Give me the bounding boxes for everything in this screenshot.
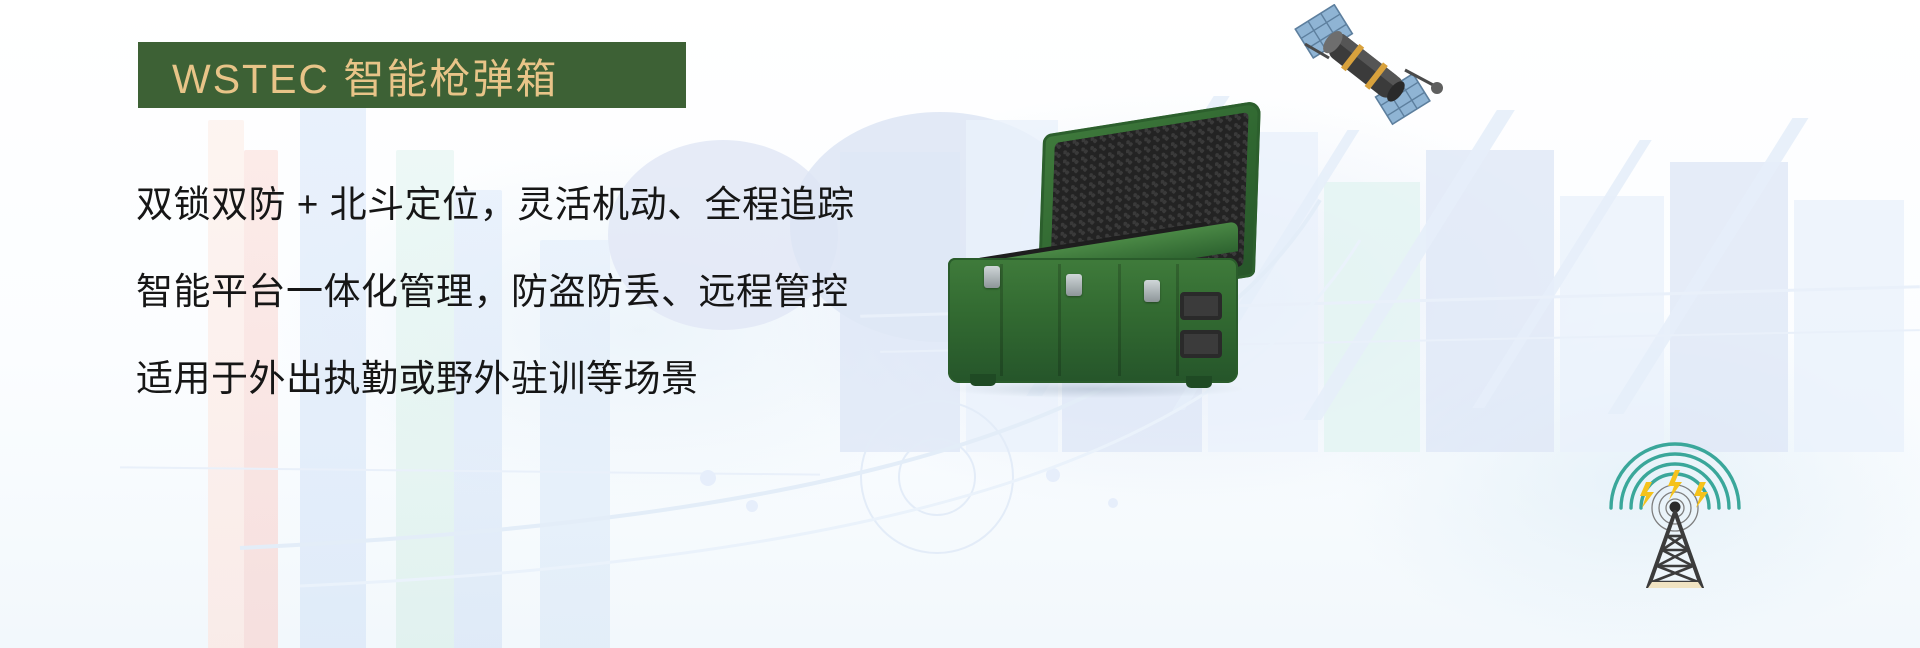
radio-tower-icon	[1600, 438, 1750, 588]
case-rib	[1058, 264, 1061, 376]
bg-diagonal-streak	[1608, 118, 1809, 414]
case-latch	[1066, 274, 1082, 296]
case-latch	[984, 266, 1000, 288]
promo-banner: WSTEC 智能枪弹箱 双锁双防 + 北斗定位，灵活机动、全程追踪 智能平台一体…	[0, 0, 1920, 648]
bg-diagonal-streak	[1472, 140, 1651, 408]
case-foot	[970, 374, 996, 386]
bg-hairline	[120, 466, 820, 475]
bg-dot	[746, 500, 758, 512]
feature-list: 双锁双防 + 北斗定位，灵活机动、全程追踪 智能平台一体化管理，防盗防丢、远程管…	[136, 186, 956, 397]
feature-line-3: 适用于外出执勤或野外驻训等场景	[136, 360, 956, 397]
bg-building	[1794, 200, 1904, 452]
case-side-handle	[1180, 292, 1222, 320]
feature-line-2: 智能平台一体化管理，防盗防丢、远程管控	[136, 273, 956, 310]
ammunition-case-image	[930, 118, 1260, 393]
bg-ring	[898, 438, 976, 516]
bg-dot	[700, 470, 716, 486]
bg-dot	[1046, 468, 1060, 482]
case-latch	[1144, 280, 1160, 302]
title-banner: WSTEC 智能枪弹箱	[138, 42, 686, 108]
case-rib	[1000, 264, 1003, 376]
case-rib	[1118, 264, 1121, 376]
feature-line-1: 双锁双防 + 北斗定位，灵活机动、全程追踪	[136, 186, 956, 223]
bg-building	[1426, 150, 1554, 452]
case-foot	[1186, 376, 1212, 388]
bg-diagonal-streak	[1303, 110, 1515, 420]
case-rib	[1176, 264, 1179, 376]
bg-dot	[1108, 498, 1118, 508]
bg-building	[1670, 162, 1788, 452]
page-title: WSTEC 智能枪弹箱	[172, 45, 558, 105]
satellite-icon	[1285, 4, 1445, 132]
bg-ring	[860, 400, 1014, 554]
bg-building	[1324, 182, 1420, 452]
bg-building	[1560, 196, 1664, 452]
case-side-handle	[1180, 330, 1222, 358]
